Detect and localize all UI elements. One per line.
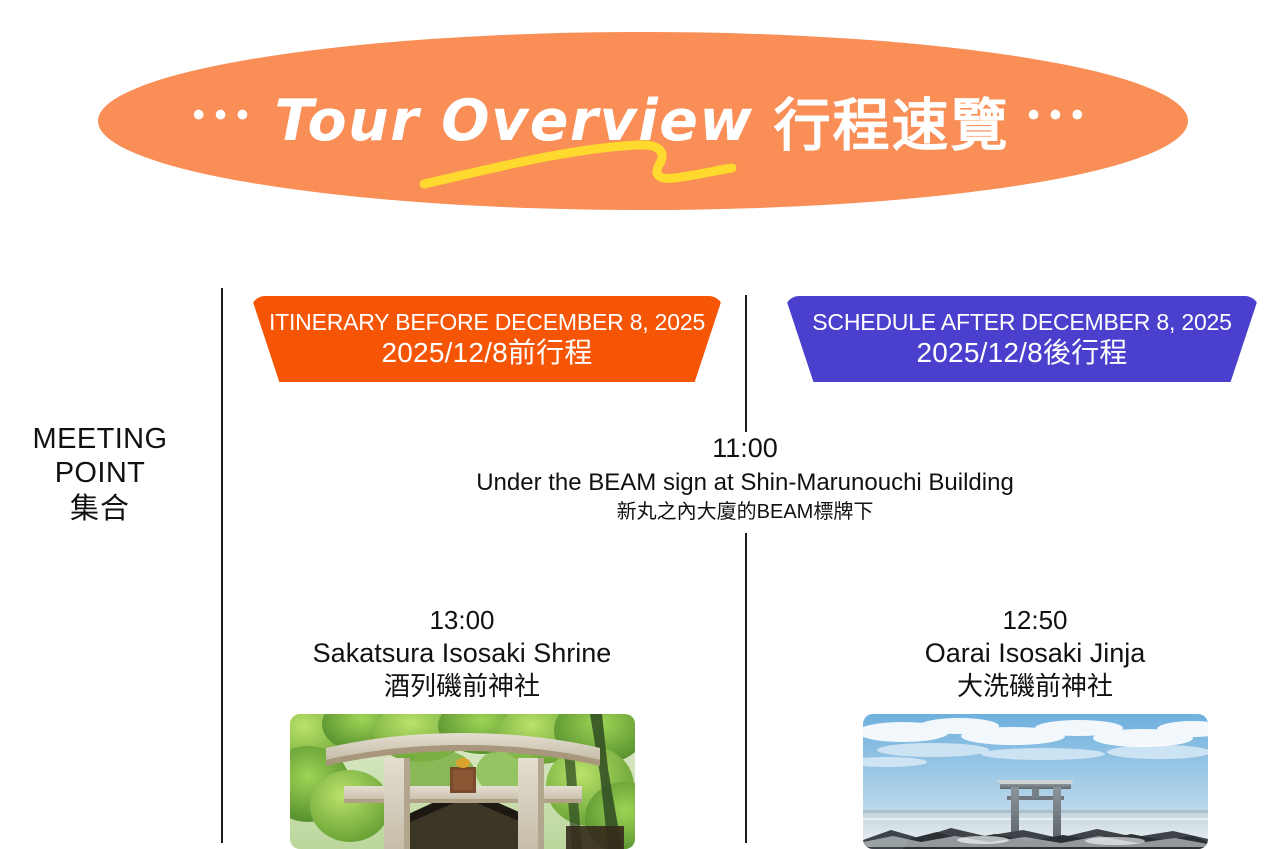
meeting-point-place-zh: 新丸之內大廈的BEAM標牌下 <box>440 499 1050 526</box>
stop-right-photo <box>863 714 1208 849</box>
stop-left-photo <box>290 714 635 849</box>
meeting-point-place-en: Under the BEAM sign at Shin-Marunouchi B… <box>440 467 1050 498</box>
itinerary-stop-left: 13:00 Sakatsura Isosaki Shrine 酒列磯前神社 <box>252 604 672 849</box>
page-title-english: Tour Overview <box>274 88 753 154</box>
header-trailing-dots: ••• <box>1028 98 1094 132</box>
stop-left-name-zh: 酒列磯前神社 <box>252 670 672 704</box>
page-title-chinese: 行程速覽 <box>774 80 1010 162</box>
column-header-after-label-en: SCHEDULE AFTER DECEMBER 8, 2025 <box>812 310 1231 336</box>
column-header-before-label-zh: 2025/12/8前行程 <box>382 336 593 370</box>
meeting-point-label-line1: MEETING <box>0 422 200 456</box>
header-leading-dots: ••• <box>193 98 259 132</box>
itinerary-stop-right: 12:50 Oarai Isosaki Jinja 大洗磯前神社 <box>825 604 1245 849</box>
stop-right-name-zh: 大洗磯前神社 <box>825 670 1245 704</box>
stop-left-name-en: Sakatsura Isosaki Shrine <box>252 637 672 670</box>
meeting-point-label-line2: POINT <box>0 456 200 490</box>
header-title-row: ••• Tour Overview 行程速覽 ••• <box>98 32 1188 210</box>
torii-gate-on-sea-rocks-image <box>863 714 1208 849</box>
column-header-before-label-en: ITINERARY BEFORE DECEMBER 8, 2025 <box>269 310 705 336</box>
meeting-point-label-chinese: 集合 <box>0 492 200 526</box>
meeting-point-time: 11:00 <box>440 432 1050 466</box>
column-header-after-dec8[interactable]: SCHEDULE AFTER DECEMBER 8, 2025 2025/12/… <box>785 296 1259 382</box>
column-divider-center-top <box>745 295 747 432</box>
column-divider-center-bottom <box>745 533 747 843</box>
page-header-banner: ••• Tour Overview 行程速覽 ••• <box>98 32 1188 210</box>
stop-right-name-en: Oarai Isosaki Jinja <box>825 637 1245 670</box>
stop-right-time: 12:50 <box>825 604 1245 637</box>
stop-left-time: 13:00 <box>252 604 672 637</box>
column-header-before-dec8[interactable]: ITINERARY BEFORE DECEMBER 8, 2025 2025/1… <box>251 296 723 382</box>
meeting-point-details: 11:00 Under the BEAM sign at Shin-Maruno… <box>440 432 1050 526</box>
column-divider-left <box>221 288 223 843</box>
meeting-point-row-label: MEETING POINT 集合 <box>0 422 200 527</box>
torii-gate-in-green-forest-image <box>290 714 635 849</box>
column-header-after-label-zh: 2025/12/8後行程 <box>917 336 1128 370</box>
